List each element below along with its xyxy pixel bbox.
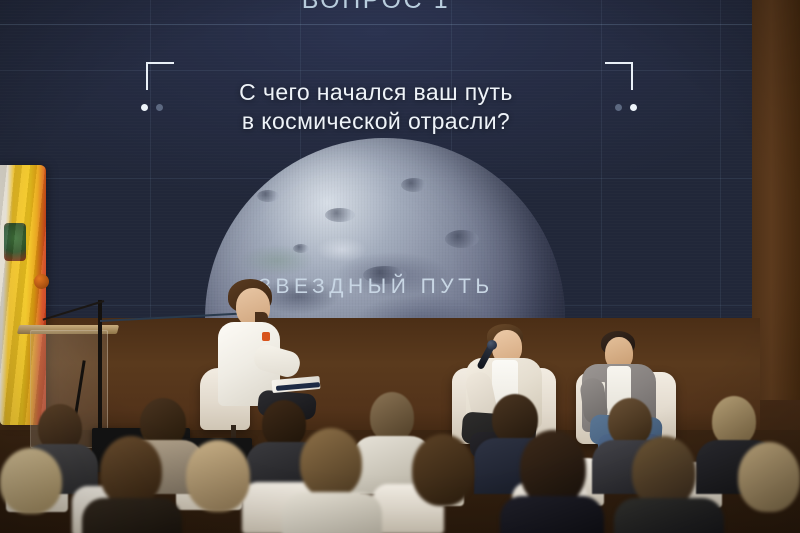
screen-footer-title: ЗВЕЗДНЫЙ ПУТЬ [0, 275, 752, 299]
audience-head [520, 430, 586, 506]
corner-bracket-right-icon [605, 62, 633, 90]
moderator-lapel-pin [262, 332, 270, 341]
audience-shoulders [282, 492, 382, 533]
crater [257, 190, 279, 202]
audience-head [300, 428, 362, 498]
crater [293, 244, 309, 253]
crater [401, 178, 427, 192]
audience-head [186, 440, 250, 512]
audience-shoulders [614, 498, 724, 533]
audience-head [712, 396, 756, 446]
screen-question: С чего начался ваш путь в космической от… [0, 78, 752, 137]
microphone-capsule-icon [487, 340, 497, 350]
crater [445, 230, 479, 248]
audience-head [370, 392, 414, 442]
audience-head [608, 398, 652, 446]
screen-title: ВОПРОС 1 [0, 0, 752, 15]
audience-shoulders [500, 496, 604, 533]
dot-inactive [156, 104, 163, 111]
audience-head [412, 434, 474, 506]
dots-left [141, 104, 163, 111]
led-panel-seam [720, 0, 721, 320]
corner-bracket-left-icon [146, 62, 174, 90]
crater [325, 208, 355, 222]
led-panel-seam [0, 70, 752, 71]
audience-head [492, 394, 538, 444]
led-video-wall: ВОПРОС 1 С чего начался ваш путь в косми… [0, 0, 752, 320]
screen-question-line-1: С чего начался ваш путь [0, 78, 752, 107]
audience-head [262, 400, 306, 448]
dot-active [141, 104, 148, 111]
led-panel-seam [601, 0, 602, 320]
screen-question-line-2: в космической отрасли? [0, 107, 752, 136]
microphone-head-icon [34, 274, 49, 289]
dot-active [630, 104, 637, 111]
dots-right [615, 104, 637, 111]
audience-head [100, 436, 162, 506]
led-panel-seam [0, 24, 752, 25]
audience-head [0, 448, 62, 514]
led-panel-seam [150, 0, 151, 320]
dot-inactive [615, 104, 622, 111]
audience-head [738, 442, 800, 512]
audience-shoulders [82, 498, 182, 533]
conference-photo-scene: ВОПРОС 1 С чего начался ваш путь в косми… [0, 0, 800, 533]
